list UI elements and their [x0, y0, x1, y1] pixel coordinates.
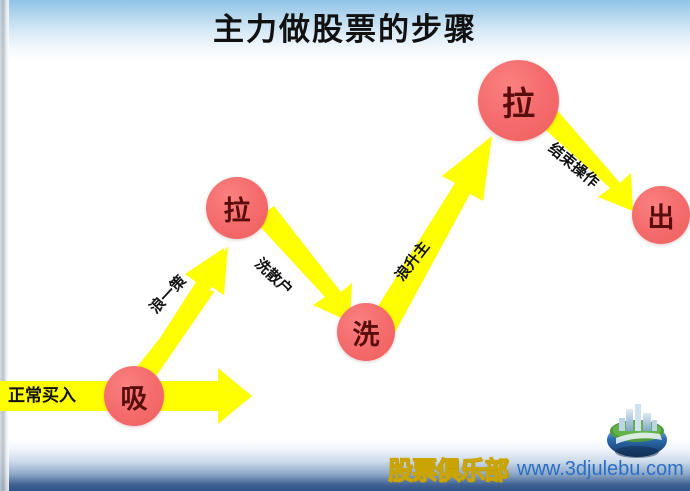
arrow-label-buy: 正常买入: [8, 381, 76, 406]
arrow-pull1: [136, 248, 224, 372]
footer-watermark: 股票俱乐部 www.3djulebu.com: [388, 451, 684, 487]
node-chu[interactable]: 出: [632, 186, 690, 244]
arrow-layer: [0, 0, 690, 491]
node-xi[interactable]: 吸: [104, 366, 164, 426]
brand-text: 股票俱乐部: [388, 451, 508, 487]
arrow-pull2: [368, 136, 492, 338]
node-la-second[interactable]: 拉: [478, 60, 559, 141]
node-la-first[interactable]: 拉: [206, 177, 268, 239]
site-url-text: www.3djulebu.com: [517, 458, 684, 481]
slide-canvas: 主力做股票的步骤 吸 拉 洗 拉 出 正常买入 浪一策 洗散户 浪升主 结束操作: [0, 0, 690, 491]
node-xi-wash[interactable]: 洗: [337, 303, 395, 361]
